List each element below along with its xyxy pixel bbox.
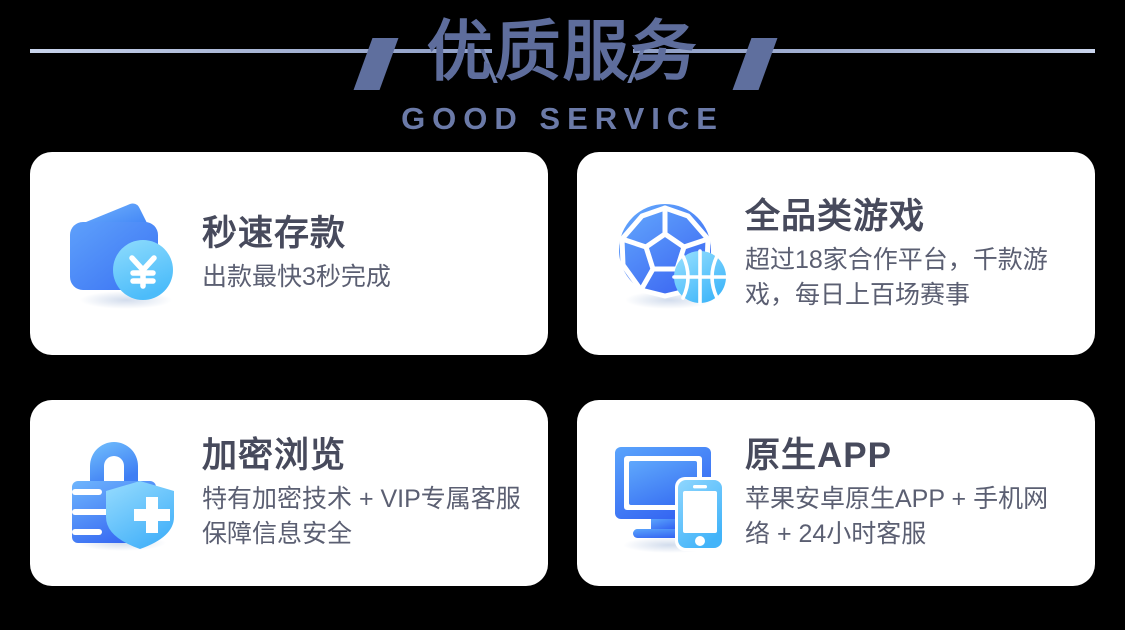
feature-card-native-app[interactable]: 原生APP 苹果安卓原生APP + 手机网络 + 24小时客服 — [577, 400, 1095, 586]
wallet-yen-icon — [64, 194, 184, 314]
card-title: 原生APP — [745, 434, 1069, 478]
feature-card-text: 原生APP 苹果安卓原生APP + 手机网络 + 24小时客服 — [745, 434, 1069, 552]
card-description: 出款最快3秒完成 — [202, 260, 522, 295]
monitor-phone-icon — [611, 433, 731, 553]
card-title: 秒速存款 — [202, 212, 522, 256]
page-subtitle: GOOD SERVICE — [0, 100, 1125, 138]
feature-card-grid: 秒速存款 出款最快3秒完成 — [30, 152, 1095, 586]
feature-card-encryption[interactable]: 加密浏览 特有加密技术 + VIP专属客服保障信息安全 — [30, 400, 548, 586]
card-description: 超过18家合作平台，千款游戏，每日上百场赛事 — [745, 243, 1069, 313]
feature-card-deposit[interactable]: 秒速存款 出款最快3秒完成 — [30, 152, 548, 355]
card-title: 全品类游戏 — [745, 195, 1069, 239]
card-title: 加密浏览 — [202, 434, 522, 478]
feature-card-text: 加密浏览 特有加密技术 + VIP专属客服保障信息安全 — [202, 434, 522, 552]
feature-card-text: 秒速存款 出款最快3秒完成 — [202, 212, 522, 295]
page-title: 优质服务 — [0, 8, 1125, 94]
card-description: 特有加密技术 + VIP专属客服保障信息安全 — [202, 482, 522, 552]
banner-header: 优质服务 GOOD SERVICE — [0, 0, 1125, 148]
card-description: 苹果安卓原生APP + 手机网络 + 24小时客服 — [745, 482, 1069, 552]
lock-shield-icon — [64, 433, 184, 553]
feature-card-text: 全品类游戏 超过18家合作平台，千款游戏，每日上百场赛事 — [745, 195, 1069, 313]
feature-card-games[interactable]: 全品类游戏 超过18家合作平台，千款游戏，每日上百场赛事 — [577, 152, 1095, 355]
promo-banner: 优质服务 GOOD SERVICE — [0, 0, 1125, 630]
soccer-basketball-icon — [611, 194, 731, 314]
